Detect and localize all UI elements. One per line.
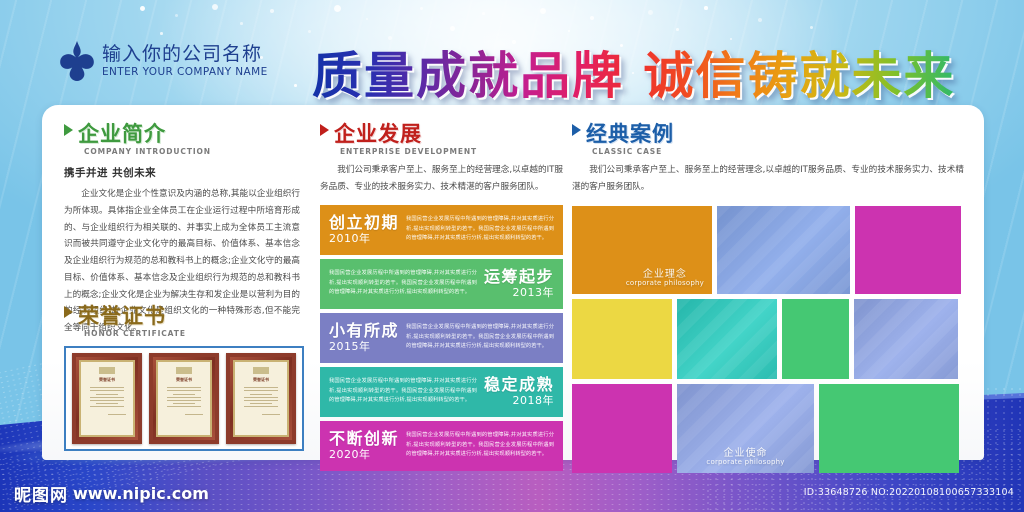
milestone-name: 创立初期 (329, 214, 399, 231)
bubble-dot (175, 14, 178, 17)
development-intro: 我们公司秉承客户至上、服务至上的经营理念,以卓越的IT服务品质、专业的技术服务实… (320, 162, 563, 196)
milestone-description: 我国民营企业发展历程中所遇到的管理障碍,并对其实质进行分析,提出实现顺利转型的若… (329, 269, 477, 298)
case-tile[interactable] (572, 384, 672, 473)
site-watermark: 昵图网 www.nipic.com (14, 481, 209, 506)
section-title-en: ENTERPRISE DEVELOPMENT (340, 147, 563, 156)
milestone-year: 2020年 (329, 449, 399, 461)
case-intro: 我们公司秉承客户至上、服务至上的经营理念,以卓越的IT服务品质、专业的技术服务实… (572, 162, 964, 196)
section-title-en: COMPANY INTRODUCTION (84, 147, 300, 156)
milestone-bar[interactable]: 运筹起步2013年我国民营企业发展历程中所遇到的管理障碍,并对其实质进行分析,提… (320, 259, 563, 309)
case-tile-caption-en: corporate philosophy (677, 459, 814, 467)
bubble-dot (366, 18, 368, 20)
milestone-name: 不断创新 (329, 430, 399, 447)
case-tile-caption: 企业理念corporate philosophy (626, 269, 704, 288)
case-tile[interactable] (782, 299, 849, 379)
bubble-dot (270, 9, 274, 13)
certificate-text-line (167, 387, 201, 388)
milestone-name: 小有所成 (329, 322, 399, 339)
site-url: www.nipic.com (73, 484, 209, 503)
milestone-description: 我国民营企业发展历程中所遇到的管理障碍,并对其实质进行分析,提出实现顺利转型的若… (329, 377, 477, 406)
bubble-dot (482, 12, 485, 15)
triangle-bullet-icon (320, 124, 329, 136)
bubble-dot (704, 6, 708, 10)
certificate-seal-icon (99, 367, 115, 374)
certificate-inner: 荣誉证书 (156, 360, 212, 437)
case-tile[interactable] (819, 384, 959, 473)
company-name-en: ENTER YOUR COMPANY NAME (102, 67, 268, 78)
section-title-cn: 企业发展 (334, 123, 422, 145)
milestone-year: 2018年 (484, 395, 554, 407)
honor-certificate-heading: 荣誉证书 (64, 305, 304, 327)
certificate-text-line (244, 387, 278, 388)
bubble-dot (676, 28, 679, 31)
certificate-title: 荣誉证书 (253, 377, 269, 383)
certificate-gallery: 荣誉证书荣誉证书荣誉证书 (64, 346, 304, 451)
certificate-title: 荣誉证书 (99, 377, 115, 383)
case-tile[interactable]: 企业理念corporate philosophy (572, 206, 712, 294)
certificate-signature-line (108, 414, 126, 415)
certificate-inner: 荣誉证书 (233, 360, 289, 437)
bubble-dot (308, 30, 311, 33)
case-grid-row: 企业理念corporate philosophy (572, 206, 964, 294)
case-image-grid: 企业理念corporate philosophy企业使命corporate ph… (572, 206, 964, 473)
certificate-seal-icon (253, 367, 269, 374)
certificate-signature-line (185, 414, 203, 415)
certificate-signature-line (262, 414, 280, 415)
company-introduction-heading: 企业简介 (64, 123, 300, 145)
case-tile[interactable] (854, 299, 958, 379)
certificate-text-line (173, 403, 194, 404)
intro-lead: 携手并进 共创未来 (64, 165, 300, 180)
bubble-dot (810, 26, 813, 29)
milestone-name: 运筹起步 (484, 268, 554, 285)
enterprise-development-heading: 企业发展 (320, 123, 563, 145)
milestone-bar[interactable]: 小有所成2015年我国民营企业发展历程中所遇到的管理障碍,并对其实质进行分析,提… (320, 313, 563, 363)
certificate-text-line (244, 400, 278, 401)
case-tile[interactable] (855, 206, 961, 294)
case-grid-row (572, 299, 964, 379)
bubble-dot (540, 8, 546, 14)
milestone-timeline: 创立初期2010年我国民营企业发展历程中所遇到的管理障碍,并对其实质进行分析,提… (320, 205, 563, 471)
certificate-frame[interactable]: 荣誉证书 (72, 353, 142, 444)
certificate-text-line (90, 390, 124, 391)
certificate-seal-icon (176, 367, 192, 374)
certificate-text-line (90, 400, 124, 401)
section-title-cn: 荣誉证书 (78, 305, 166, 327)
milestone-bar[interactable]: 不断创新2020年我国民营企业发展历程中所遇到的管理障碍,并对其实质进行分析,提… (320, 421, 563, 471)
bubble-dot (240, 22, 243, 25)
triangle-bullet-icon (64, 306, 73, 318)
milestone-label: 小有所成2015年 (329, 322, 399, 353)
content-panel: 企业简介 COMPANY INTRODUCTION 携手并进 共创未来 企业文化… (42, 105, 984, 460)
certificate-text-line (90, 387, 124, 388)
company-name-cn: 输入你的公司名称 (102, 45, 268, 64)
case-tile[interactable] (717, 206, 850, 294)
milestone-year: 2013年 (484, 287, 554, 299)
milestone-label: 运筹起步2013年 (484, 268, 554, 299)
bubble-dot (648, 10, 653, 15)
section-enterprise-development: 企业发展 ENTERPRISE DEVELOPMENT 我们公司秉承客户至上、服… (320, 123, 563, 475)
bubble-dot (160, 32, 163, 35)
certificate-text-line (173, 394, 194, 395)
milestone-description: 我国民营企业发展历程中所遇到的管理障碍,并对其实质进行分析,提出实现顺利转型的若… (406, 215, 554, 244)
bubble-dot (212, 4, 218, 10)
certificate-text-line (244, 397, 278, 398)
certificate-text-line (167, 390, 201, 391)
certificate-text-line (244, 390, 278, 391)
certificate-text-line (167, 397, 201, 398)
site-name-cn: 昵图网 (14, 481, 68, 506)
certificate-text-line (167, 406, 201, 407)
milestone-description: 我国民营企业发展历程中所遇到的管理障碍,并对其实质进行分析,提出实现顺利转型的若… (406, 323, 554, 352)
asset-id-text: ID:33648726 NO:20220108100657333104 (804, 487, 1014, 498)
page-title: 质量成就品牌 诚信铸就未来 (312, 36, 955, 108)
triangle-bullet-icon (64, 124, 73, 136)
case-tile[interactable] (677, 299, 777, 379)
certificate-inner: 荣誉证书 (79, 360, 135, 437)
bubble-dot (294, 84, 297, 87)
bubble-dot (450, 26, 455, 31)
milestone-description: 我国民营企业发展历程中所遇到的管理障碍,并对其实质进行分析,提出实现顺利转型的若… (406, 431, 554, 460)
milestone-label: 创立初期2010年 (329, 214, 399, 245)
certificate-text-line (90, 406, 124, 407)
milestone-label: 稳定成熟2018年 (484, 376, 554, 407)
case-tile[interactable]: 企业使命corporate philosophy (677, 384, 814, 473)
certificate-text-line (250, 394, 271, 395)
certificate-text-line (90, 397, 124, 398)
milestone-year: 2010年 (329, 233, 399, 245)
certificate-frame[interactable]: 荣誉证书 (149, 353, 219, 444)
case-tile[interactable] (572, 299, 672, 379)
certificate-title: 荣誉证书 (176, 377, 192, 383)
certificate-text-line (96, 394, 117, 395)
triangle-bullet-icon (572, 124, 581, 136)
certificate-text-line (244, 406, 278, 407)
bubble-dot (568, 30, 570, 32)
certificate-text-line (250, 403, 271, 404)
bubble-dot (334, 5, 341, 12)
section-title-cn: 经典案例 (586, 123, 674, 145)
section-title-en: CLASSIC CASE (592, 147, 964, 156)
milestone-name: 稳定成熟 (484, 376, 554, 393)
section-honor-certificate: 荣誉证书 HONOR CERTIFICATE 荣誉证书荣誉证书荣誉证书 (64, 305, 304, 451)
section-title-en: HONOR CERTIFICATE (84, 329, 304, 338)
milestone-bar[interactable]: 创立初期2010年我国民营企业发展历程中所遇到的管理障碍,并对其实质进行分析,提… (320, 205, 563, 255)
certificate-text-line (96, 403, 117, 404)
classic-case-heading: 经典案例 (572, 123, 964, 145)
case-tile-caption-en: corporate philosophy (626, 280, 704, 288)
milestone-bar[interactable]: 稳定成熟2018年我国民营企业发展历程中所遇到的管理障碍,并对其实质进行分析,提… (320, 367, 563, 417)
bubble-dot (590, 16, 594, 20)
certificate-text-line (167, 400, 201, 401)
milestone-label: 不断创新2020年 (329, 430, 399, 461)
bubble-dot (758, 18, 762, 22)
fleur-de-lis-icon (60, 41, 94, 81)
company-logo-row: 输入你的公司名称 ENTER YOUR COMPANY NAME (60, 41, 268, 81)
bubble-dot (140, 6, 145, 11)
milestone-year: 2015年 (329, 341, 399, 353)
section-classic-case: 经典案例 CLASSIC CASE 我们公司秉承客户至上、服务至上的经营理念,以… (572, 123, 964, 478)
certificate-frame[interactable]: 荣誉证书 (226, 353, 296, 444)
case-tile-caption: 企业使命corporate philosophy (677, 448, 814, 467)
bubble-dot (420, 7, 423, 10)
section-title-cn: 企业简介 (78, 123, 166, 145)
case-grid-row: 企业使命corporate philosophy (572, 384, 964, 473)
